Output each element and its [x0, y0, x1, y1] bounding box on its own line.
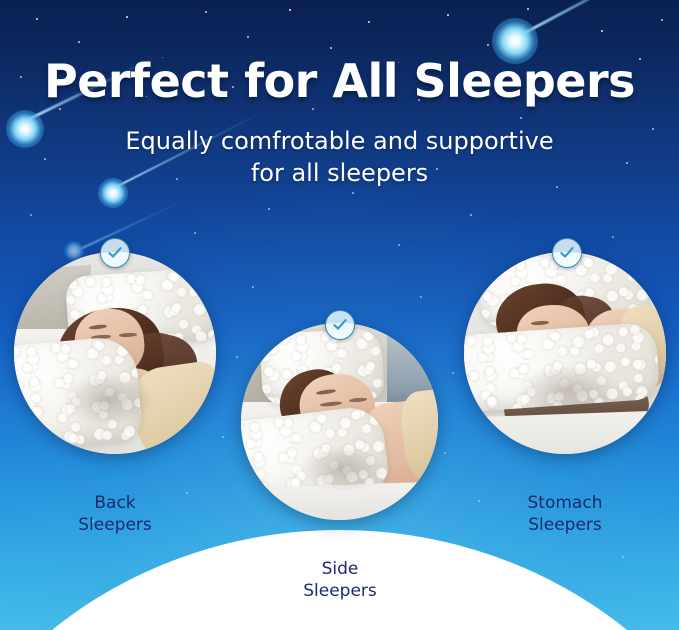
page-title: Perfect for All Sleepers — [0, 57, 679, 105]
photo-stomach-sleeper — [464, 252, 666, 454]
caption-stomach-sleepers: Stomach Sleepers — [465, 492, 665, 536]
check-icon — [107, 245, 123, 261]
page-subtitle: Equally comfrotable and supportive for a… — [0, 125, 679, 190]
check-icon — [559, 245, 575, 261]
caption-back-sleepers: Back Sleepers — [15, 492, 215, 536]
photo-side-sleeper — [241, 323, 438, 520]
sleeper-benefits-poster: Perfect for All Sleepers Equally comfrot… — [0, 0, 679, 630]
check-badge-side-sleepers — [325, 310, 355, 340]
check-badge-stomach-sleepers — [552, 238, 582, 268]
photo-back-sleeper — [14, 252, 216, 454]
caption-side-sleepers: Side Sleepers — [240, 558, 440, 602]
subtitle-line-2: for all sleepers — [0, 157, 679, 189]
check-icon — [332, 317, 348, 333]
check-badge-back-sleepers — [100, 238, 130, 268]
subtitle-line-1: Equally comfrotable and supportive — [0, 125, 679, 157]
